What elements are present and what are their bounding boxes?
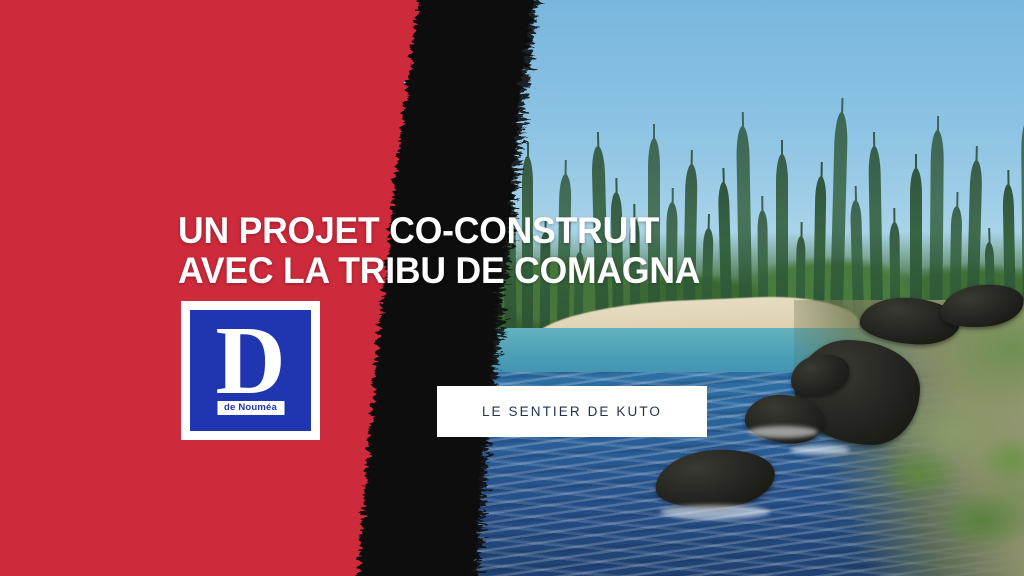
sea-foam: [748, 426, 818, 438]
logo-monogram-d: D: [190, 312, 311, 409]
sea-foam: [660, 505, 770, 519]
headline-line-1: UN PROJET CO-CONSTRUIT: [178, 211, 716, 251]
logo-subtitle: de Nouméa: [217, 401, 284, 415]
poster-canvas: UN PROJET CO-CONSTRUIT AVEC LA TRIBU DE …: [0, 0, 1024, 576]
logo[interactable]: D de Nouméa: [181, 301, 320, 440]
logo-inner: D de Nouméa: [190, 310, 311, 431]
cta-button-label: LE SENTIER DE KUTO: [482, 404, 662, 419]
shore-vegetation: [874, 430, 1024, 576]
cta-button-sentier-de-kuto[interactable]: LE SENTIER DE KUTO: [437, 386, 707, 437]
headline-line-2: AVEC LA TRIBU DE COMAGNA: [178, 251, 716, 291]
sea-foam: [790, 445, 850, 455]
page-title: UN PROJET CO-CONSTRUIT AVEC LA TRIBU DE …: [178, 211, 716, 291]
